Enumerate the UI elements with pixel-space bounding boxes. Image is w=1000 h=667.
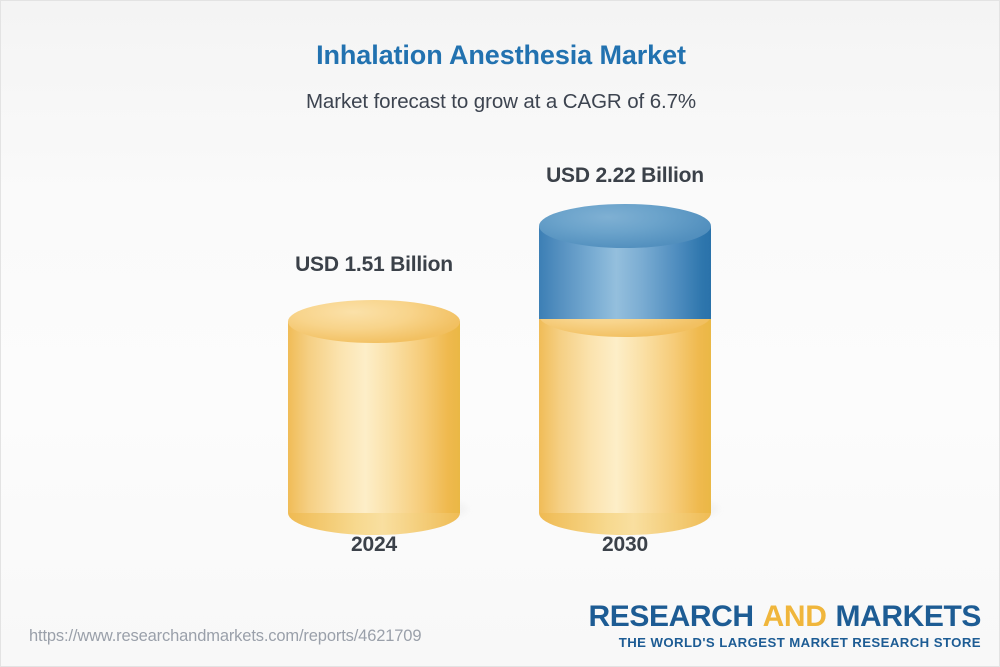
cylinder-top-2030: [539, 204, 711, 248]
value-label-2030: USD 2.22 Billion: [465, 164, 785, 188]
source-url[interactable]: https://www.researchandmarkets.com/repor…: [29, 627, 421, 646]
cylinder-body-gold-2030: [539, 315, 711, 513]
logo-word-and: AND: [763, 600, 827, 633]
chart-canvas: Inhalation Anesthesia Market Market fore…: [0, 0, 1000, 667]
value-label-2024: USD 1.51 Billion: [214, 253, 534, 277]
logo-tagline: THE WORLD'S LARGEST MARKET RESEARCH STOR…: [589, 635, 981, 650]
category-label-2030: 2030: [465, 533, 785, 557]
plot-area: USD 1.51 Billion 2024 USD 2.22 Billion: [1, 1, 1000, 601]
logo-word-research: RESEARCH: [589, 600, 754, 633]
logo-wordmark: RESEARCHANDMARKETS: [589, 601, 981, 633]
logo-word-markets: MARKETS: [835, 600, 981, 633]
research-and-markets-logo[interactable]: RESEARCHANDMARKETS THE WORLD'S LARGEST M…: [589, 601, 981, 651]
cylinder-body-gold-2024: [288, 321, 460, 513]
cylinder-top-2024: [288, 300, 460, 343]
